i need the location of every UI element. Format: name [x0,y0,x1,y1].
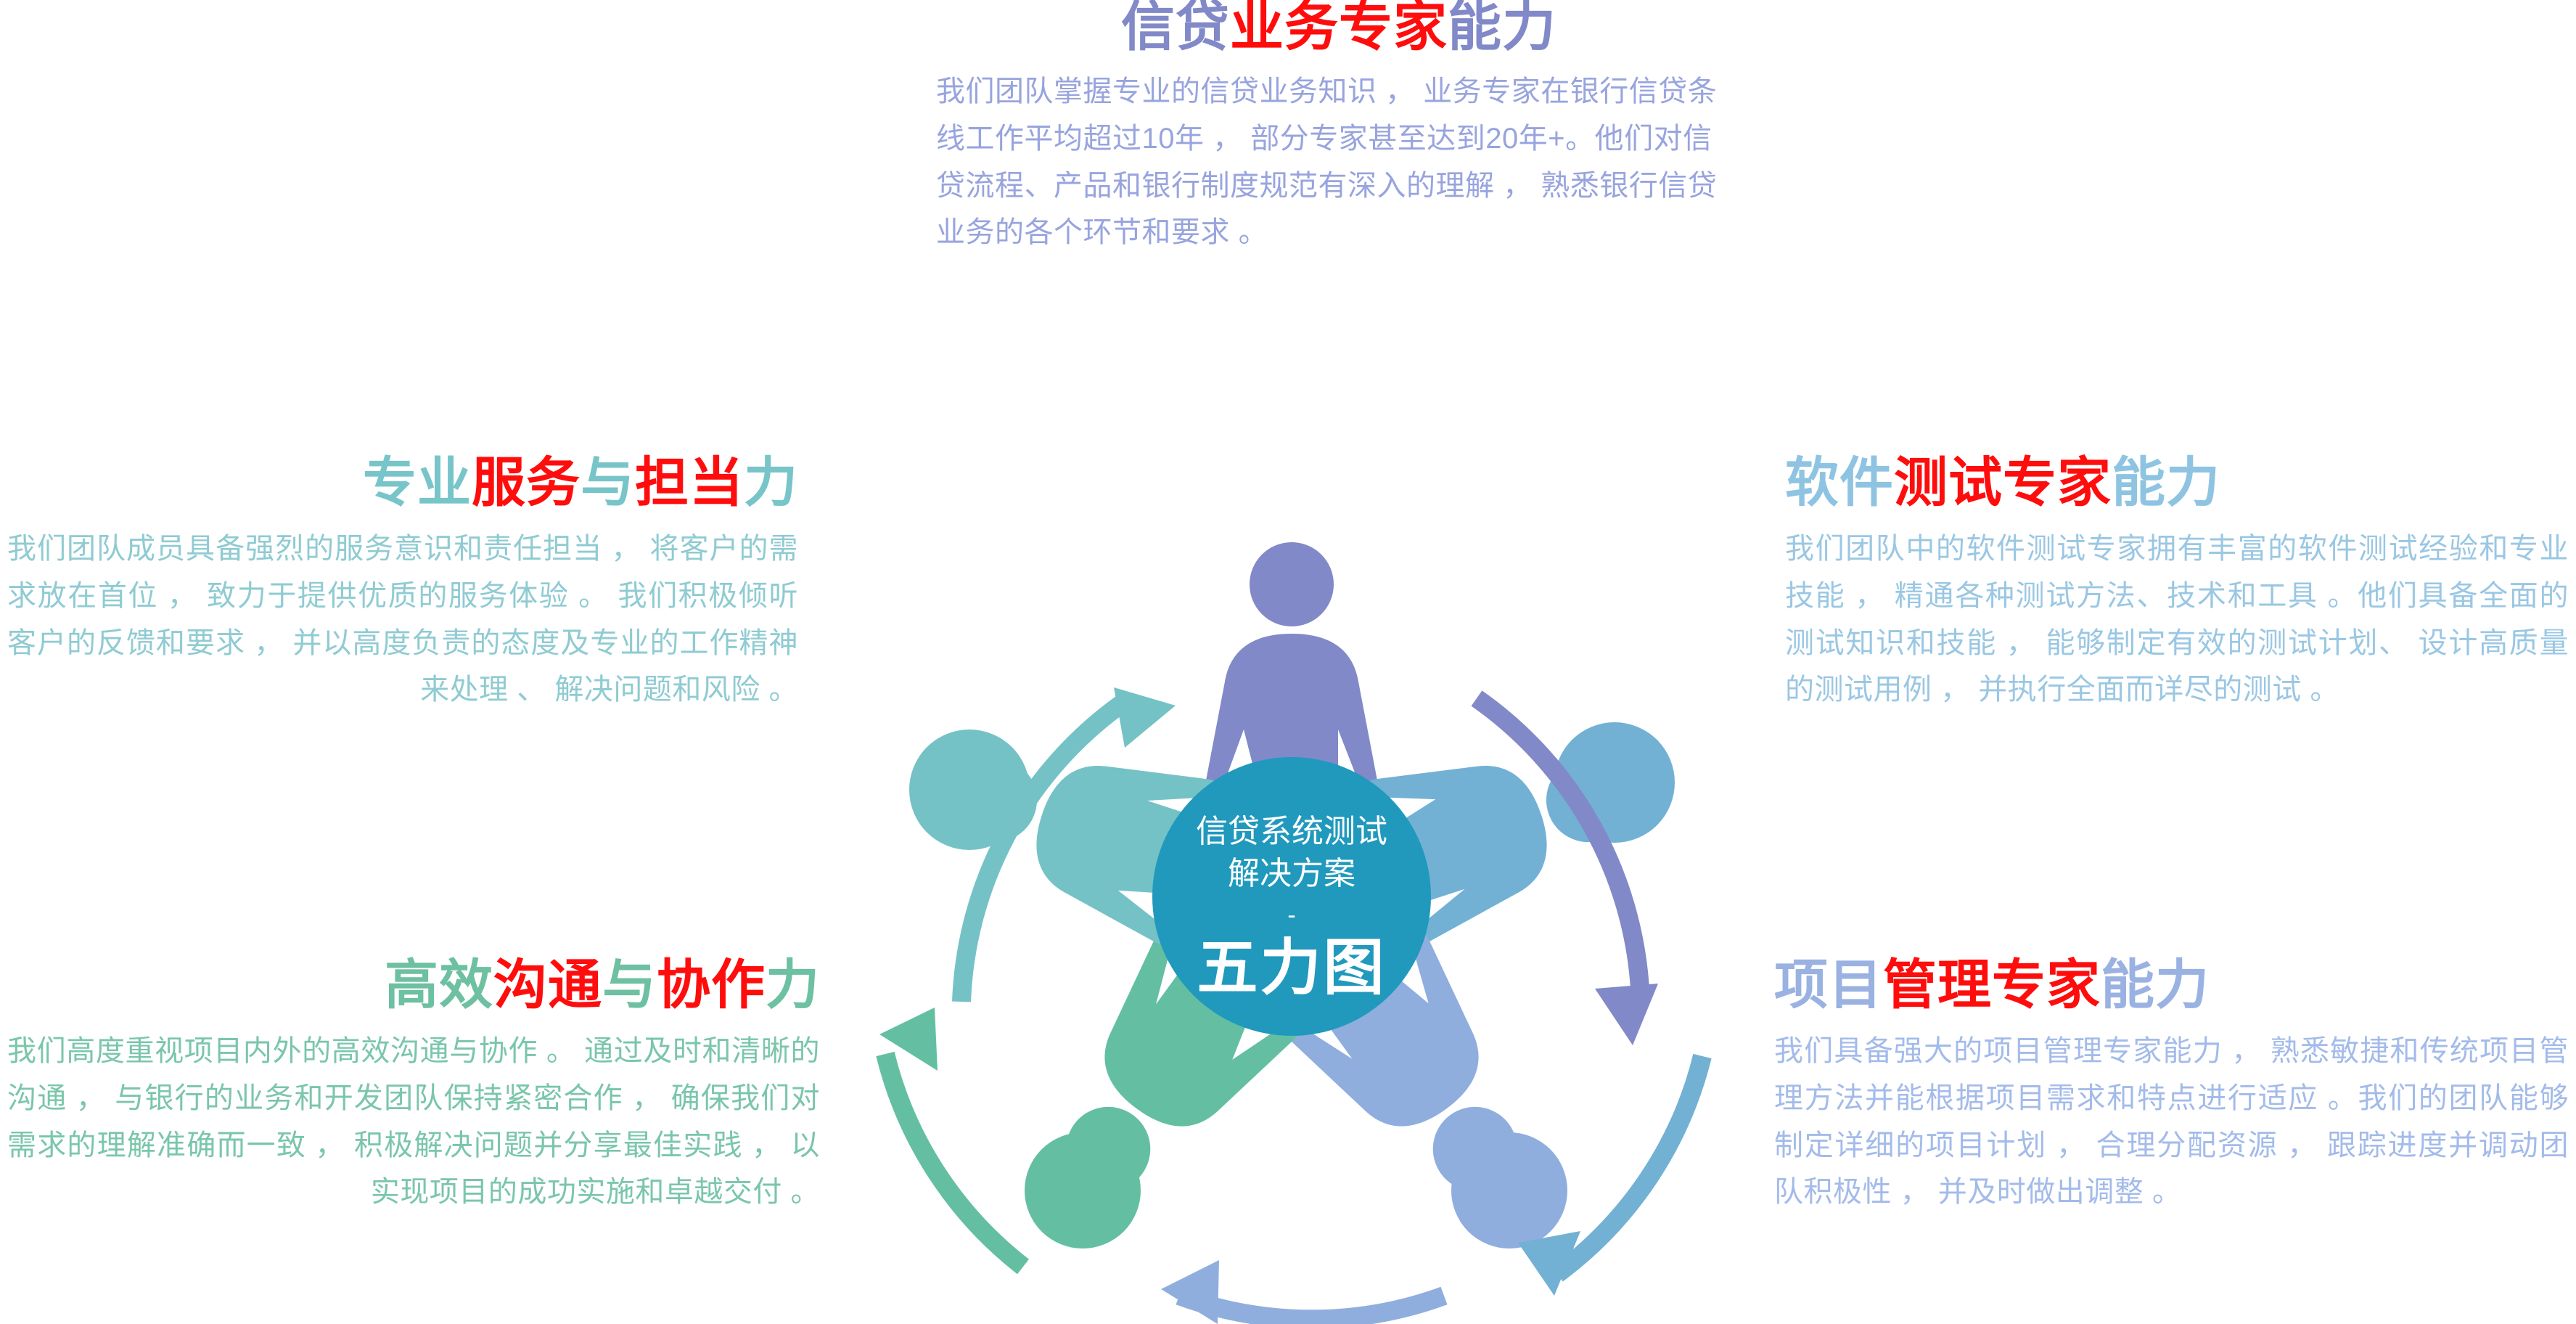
panel-credit-title: 信贷业务专家能力 [936,0,1742,54]
title-segment: 专业 [363,452,472,512]
title-segment-highlight: 业务专家 [1230,0,1448,57]
title-segment: 高效 [385,955,493,1015]
title-segment-highlight: 服务 [472,452,581,512]
panel-qa-body: 我们团队中的软件测试专家拥有丰富的软件测试经验和专业技能 ， 精通各种测试方法、… [1785,526,2569,714]
panel-qa-title: 软件测试专家能力 [1785,456,2569,510]
title-segment-highlight: 担当 [635,452,744,512]
hub-separator: - [1287,902,1295,929]
panel-comm-body: 我们高度重视项目内外的高效沟通与协作 。 通过及时和清晰的沟通 ， 与银行的业务… [7,1028,820,1216]
panel-software-testing: 软件测试专家能力 我们团队中的软件测试专家拥有丰富的软件测试经验和专业技能 ， … [1785,456,2569,714]
hub-line-1: 信贷系统测试 [1196,814,1387,849]
panel-comm-title: 高效沟通与协作力 [7,958,820,1012]
panel-pm-title: 项目管理专家能力 [1774,958,2569,1012]
title-segment-highlight: 协作 [657,955,766,1015]
title-segment-highlight: 测试专家 [1894,452,2112,512]
panel-credit-body: 我们团队掌握专业的信贷业务知识 ， 业务专家在银行信贷条线工作平均超过10年 ，… [936,68,1742,256]
title-segment: 能力 [1448,0,1556,57]
panel-project-management: 项目管理专家能力 我们具备强大的项目管理专家能力 ， 熟悉敏捷和传统项目管理方法… [1774,958,2569,1216]
title-segment: 信贷 [1121,0,1230,57]
panel-service-title: 专业服务与担当力 [7,456,798,510]
arrow-bottomleft-to-left [879,1008,1023,1267]
title-segment-highlight: 沟通 [493,955,602,1015]
panel-professional-service: 专业服务与担当力 我们团队成员具备强烈的服务意识和责任担当 ， 将客户的需求放在… [7,456,798,714]
title-segment: 与 [581,452,635,512]
hub-line-2: 解决方案 [1228,856,1355,891]
five-forces-diagram: 信贷系统测试 解决方案 - 五力图 [784,363,1800,1324]
panel-pm-body: 我们具备强大的项目管理专家能力 ， 熟悉敏捷和传统项目管理方法并能根据项目需求和… [1774,1028,2569,1216]
panel-communication-collaboration: 高效沟通与协作力 我们高度重视项目内外的高效沟通与协作 。 通过及时和清晰的沟通… [7,958,820,1216]
title-segment: 能力 [2112,452,2220,512]
arrow-bottomright-to-bottomleft [1161,1260,1444,1324]
title-segment: 能力 [2101,955,2210,1015]
node-bottom-right[interactable] [1451,1132,1567,1249]
infographic-page: 信贷业务专家能力 我们团队掌握专业的信贷业务知识 ， 业务专家在银行信贷条线工作… [0,0,2576,1324]
panel-service-body: 我们团队成员具备强烈的服务意识和责任担当 ， 将客户的需求放在首位 ， 致力于提… [7,526,798,714]
title-segment-highlight: 管理专家 [1883,955,2101,1015]
hub[interactable]: 信贷系统测试 解决方案 - 五力图 [1152,757,1431,1036]
title-segment: 软件 [1785,452,1894,512]
title-segment: 与 [602,955,657,1015]
node-bottom-left[interactable] [1025,1132,1141,1249]
panel-credit-business: 信贷业务专家能力 我们团队掌握专业的信贷业务知识 ， 业务专家在银行信贷条线工作… [936,0,1742,256]
hub-title: 五力图 [1197,933,1386,1002]
